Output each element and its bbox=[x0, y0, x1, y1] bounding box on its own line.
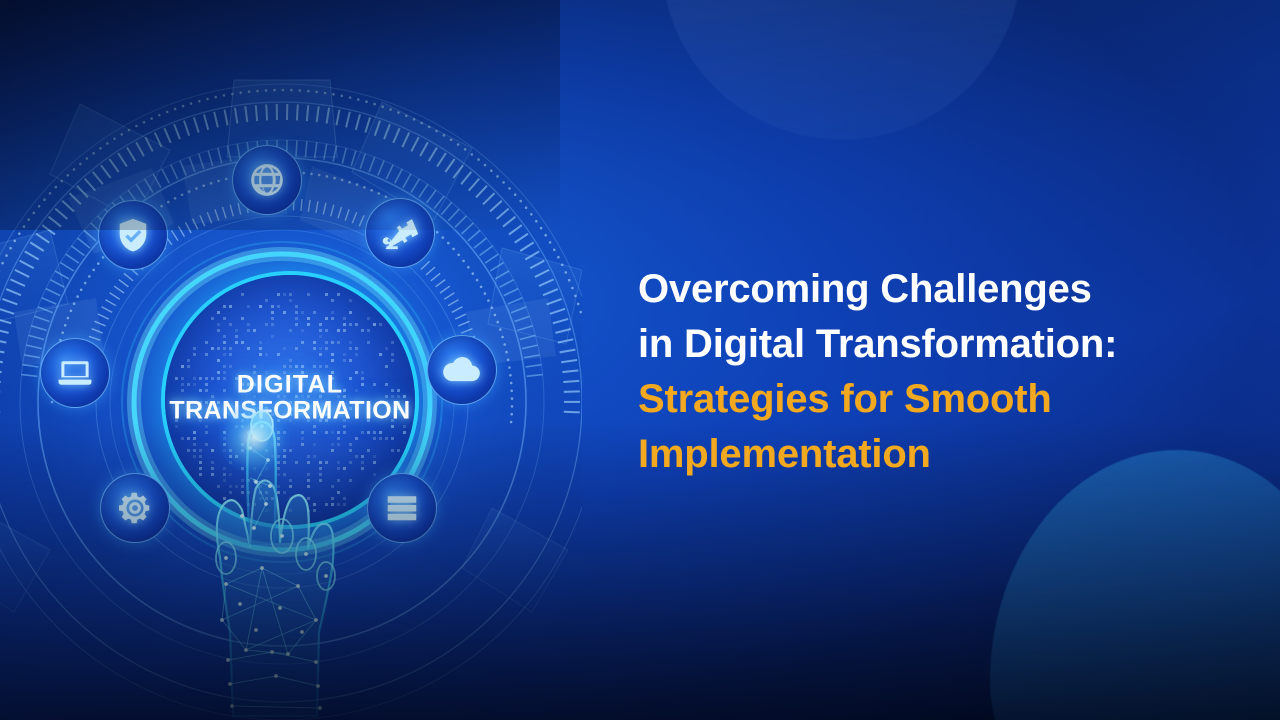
laptop-icon[interactable] bbox=[40, 338, 110, 408]
wireframe-hand bbox=[176, 408, 376, 720]
background-blob-top bbox=[628, 0, 1043, 160]
headline-line-4: Implementation bbox=[638, 427, 1238, 482]
server-icon[interactable] bbox=[367, 473, 437, 543]
headline-line-3: Strategies for Smooth bbox=[638, 372, 1238, 427]
shield-check-icon[interactable] bbox=[98, 200, 168, 270]
gear-icon[interactable] bbox=[100, 473, 170, 543]
core-label-line1: DIGITAL bbox=[165, 372, 415, 398]
headline-line-1: Overcoming Challenges bbox=[638, 262, 1238, 317]
cloud-sync-icon[interactable] bbox=[427, 335, 497, 405]
robot-arm-icon[interactable] bbox=[365, 198, 435, 268]
headline-line-2: in Digital Transformation: bbox=[638, 317, 1238, 372]
page-title: Overcoming Challenges in Digital Transfo… bbox=[638, 262, 1238, 482]
background-blob-bottom-right bbox=[990, 450, 1280, 720]
hero-banner: DIGITAL TRANSFORMATION bbox=[0, 0, 1280, 720]
globe-icon[interactable] bbox=[232, 145, 302, 215]
